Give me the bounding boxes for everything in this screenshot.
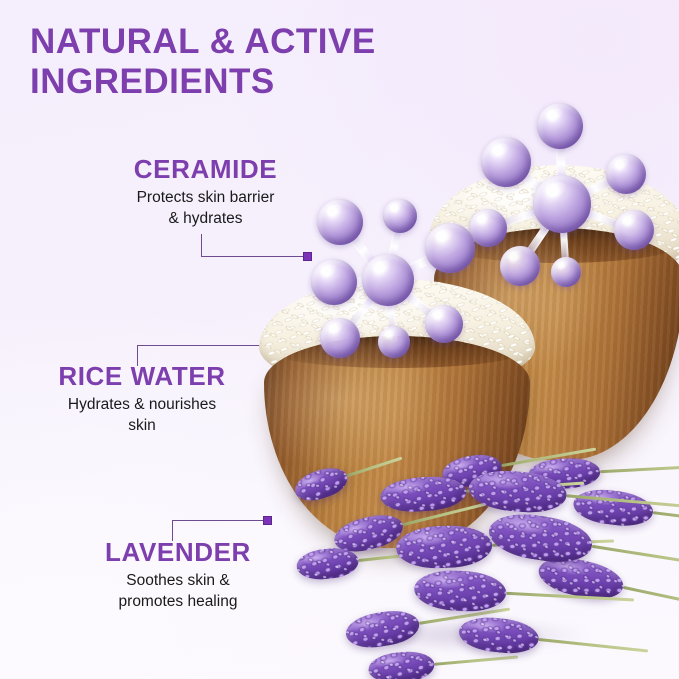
- leader-segment-horizontal: [201, 256, 309, 257]
- page-title: NATURAL & ACTIVE INGREDIENTS: [30, 22, 460, 102]
- ingredient-callout-ceramide: CERAMIDE Protects skin barrier & hydrate…: [118, 156, 293, 230]
- leader-segment-horizontal: [137, 345, 279, 346]
- molecule-atom: [606, 154, 646, 194]
- ingredient-name-rice-water: RICE WATER: [47, 363, 237, 390]
- lavender-stem: [566, 494, 679, 509]
- page-title-line-2: INGREDIENTS: [30, 62, 460, 102]
- description-line-2: promotes healing: [119, 593, 238, 610]
- molecule-core-atom: [362, 254, 414, 306]
- ingredient-callout-lavender: LAVENDER Soothes skin & promotes healing: [89, 539, 267, 613]
- lavender-flower-spike: [467, 467, 568, 515]
- ingredient-description-ceramide: Protects skin barrier & hydrates: [118, 188, 293, 229]
- lavender-stem: [592, 545, 679, 572]
- molecule-atom: [311, 259, 357, 305]
- lavender-flower-spike: [343, 607, 421, 652]
- molecule-atom: [383, 199, 417, 233]
- lavender-flower-spike: [413, 569, 507, 614]
- leader-segment-horizontal: [172, 520, 268, 521]
- molecule-atom: [481, 137, 531, 187]
- ingredient-callout-rice-water: RICE WATER Hydrates & nourishes skin: [47, 363, 237, 437]
- page-title-line-1: NATURAL & ACTIVE: [30, 22, 376, 61]
- lavender-stem: [346, 457, 402, 478]
- molecule-atom: [317, 199, 363, 245]
- description-line-1: Hydrates & nourishes: [68, 396, 216, 413]
- leader-segment-vertical: [201, 234, 202, 257]
- lavender-flower-spike: [367, 649, 435, 679]
- lavender-flower-spike: [295, 546, 360, 582]
- lavender-flower-spike: [291, 463, 351, 506]
- description-line-2: & hydrates: [168, 210, 242, 227]
- molecule-atom: [320, 318, 360, 358]
- description-line-1: Protects skin barrier: [137, 189, 275, 206]
- molecule-atom: [425, 305, 463, 343]
- molecule-atom: [378, 326, 410, 358]
- description-line-2: skin: [128, 417, 156, 434]
- molecule-atom: [614, 210, 654, 250]
- molecule-atom: [469, 209, 507, 247]
- molecule-atom: [537, 103, 583, 149]
- ingredient-name-ceramide: CERAMIDE: [118, 156, 293, 183]
- ingredient-name-lavender: LAVENDER: [89, 539, 267, 566]
- lavender-flowers-image: [272, 392, 679, 679]
- molecule-atom: [425, 223, 475, 273]
- molecule-core-atom: [533, 175, 591, 233]
- lavender-flower-spike: [395, 524, 492, 569]
- lavender-stem: [506, 592, 634, 602]
- infographic-canvas: NATURAL & ACTIVE INGREDIENTS CERAMIDE Pr…: [0, 0, 679, 679]
- molecule-atom: [551, 257, 581, 287]
- description-line-1: Soothes skin &: [126, 572, 229, 589]
- lavender-stem: [600, 464, 679, 474]
- leader-node-ceramide: [303, 252, 312, 261]
- molecule-left-icon: [312, 196, 472, 348]
- ingredient-description-rice-water: Hydrates & nourishes skin: [47, 395, 237, 436]
- lavender-stem: [434, 656, 518, 666]
- ingredient-description-lavender: Soothes skin & promotes healing: [89, 571, 267, 612]
- lavender-stem: [538, 638, 648, 652]
- molecule-right-icon: [466, 100, 654, 296]
